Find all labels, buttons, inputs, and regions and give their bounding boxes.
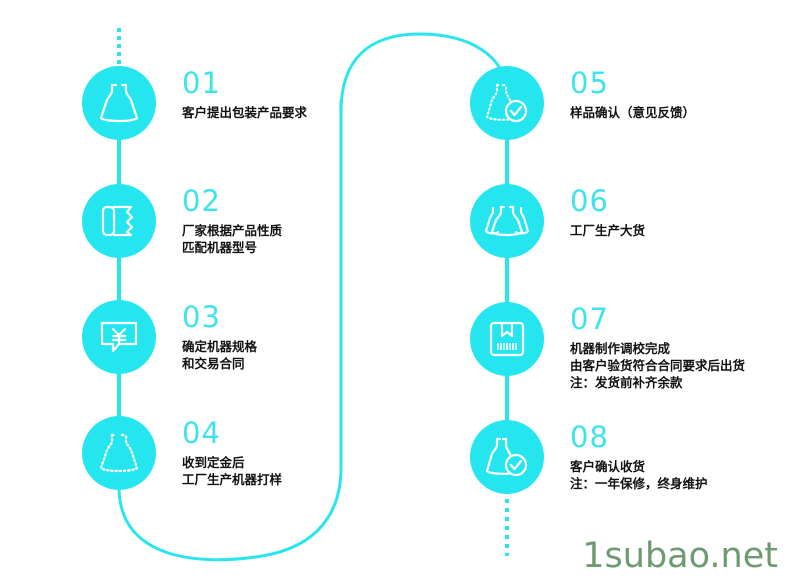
step-number-06: 06 [570, 186, 645, 217]
step-circle-06[interactable] [470, 184, 544, 258]
step-text-07: 07 机器制作调校完成 由客户验货符合合同要求后出货 注：发货前补齐余款 [570, 302, 745, 391]
step-desc-line: 样品确认（意见反馈） [570, 104, 695, 121]
step-desc-line: 工厂生产大货 [570, 222, 645, 239]
step-text-08: 08 客户确认收货 注：一年保修，终身维护 [570, 420, 708, 492]
dress-icon [98, 80, 140, 126]
step-item-02[interactable]: 02 厂家根据产品性质 匹配机器型号 [82, 184, 282, 258]
step-number-02: 02 [182, 186, 282, 217]
step-text-01: 01 客户提出包装产品要求 [182, 66, 307, 121]
step-description-08: 客户确认收货 注：一年保修，终身维护 [570, 458, 708, 492]
step-description-04: 收到定金后 工厂生产机器打样 [182, 454, 282, 488]
step-item-08[interactable]: 08 客户确认收货 注：一年保修，终身维护 [470, 420, 708, 494]
step-description-06: 工厂生产大货 [570, 222, 645, 239]
step-circle-04[interactable] [82, 416, 156, 490]
step-text-04: 04 收到定金后 工厂生产机器打样 [182, 416, 282, 488]
step-desc-line: 由客户验货符合合同要求后出货 [570, 357, 745, 374]
dotted-dress-icon [98, 430, 140, 476]
fabric-roll-icon [98, 201, 140, 241]
step-desc-line: 工厂生产机器打样 [182, 471, 282, 488]
step-description-01: 客户提出包装产品要求 [182, 104, 307, 121]
step-circle-08[interactable] [470, 420, 544, 494]
dress-check-icon [484, 434, 530, 480]
step-item-05[interactable]: 05 样品确认（意见反馈） [470, 66, 695, 140]
multiple-dresses-icon [484, 200, 530, 242]
step-circle-07[interactable] [470, 302, 544, 376]
step-desc-line: 客户提出包装产品要求 [182, 104, 307, 121]
infographic-canvas: 01 客户提出包装产品要求 02 厂家根据产品性质 匹配机器型号 [0, 0, 790, 587]
step-description-07: 机器制作调校完成 由客户验货符合合同要求后出货 注：发货前补齐余款 [570, 340, 745, 391]
step-desc-line: 注：一年保修，终身维护 [570, 475, 708, 492]
step-number-05: 05 [570, 68, 695, 99]
step-desc-line: 匹配机器型号 [182, 239, 282, 256]
step-number-03: 03 [182, 302, 257, 333]
step-circle-05[interactable] [470, 66, 544, 140]
step-number-01: 01 [182, 68, 307, 99]
step-text-03: 03 确定机器规格 和交易合同 [182, 300, 257, 372]
dotted-dress-check-icon [484, 80, 530, 126]
step-circle-02[interactable] [82, 184, 156, 258]
step-item-04[interactable]: 04 收到定金后 工厂生产机器打样 [82, 416, 282, 490]
step-desc-line: 厂家根据产品性质 [182, 222, 282, 239]
step-desc-line: 客户确认收货 [570, 458, 708, 475]
package-barcode-icon [486, 318, 528, 360]
step-item-07[interactable]: 07 机器制作调校完成 由客户验货符合合同要求后出货 注：发货前补齐余款 [470, 302, 745, 391]
step-desc-line: 确定机器规格 [182, 338, 257, 355]
step-text-05: 05 样品确认（意见反馈） [570, 66, 695, 121]
step-description-03: 确定机器规格 和交易合同 [182, 338, 257, 372]
step-desc-line: 和交易合同 [182, 355, 257, 372]
step-number-07: 07 [570, 304, 745, 335]
step-circle-03[interactable] [82, 300, 156, 374]
step-desc-line: 机器制作调校完成 [570, 340, 745, 357]
yuan-chat-icon [97, 317, 141, 357]
step-text-06: 06 工厂生产大货 [570, 184, 645, 239]
step-desc-line: 收到定金后 [182, 454, 282, 471]
watermark: 1subao.net [582, 537, 778, 575]
step-number-08: 08 [570, 422, 708, 453]
step-description-02: 厂家根据产品性质 匹配机器型号 [182, 222, 282, 256]
step-item-06[interactable]: 06 工厂生产大货 [470, 184, 645, 258]
step-number-04: 04 [182, 418, 282, 449]
step-description-05: 样品确认（意见反馈） [570, 104, 695, 121]
step-desc-line: 注：发货前补齐余款 [570, 374, 745, 391]
step-circle-01[interactable] [82, 66, 156, 140]
step-text-02: 02 厂家根据产品性质 匹配机器型号 [182, 184, 282, 256]
step-item-03[interactable]: 03 确定机器规格 和交易合同 [82, 300, 257, 374]
step-item-01[interactable]: 01 客户提出包装产品要求 [82, 66, 307, 140]
